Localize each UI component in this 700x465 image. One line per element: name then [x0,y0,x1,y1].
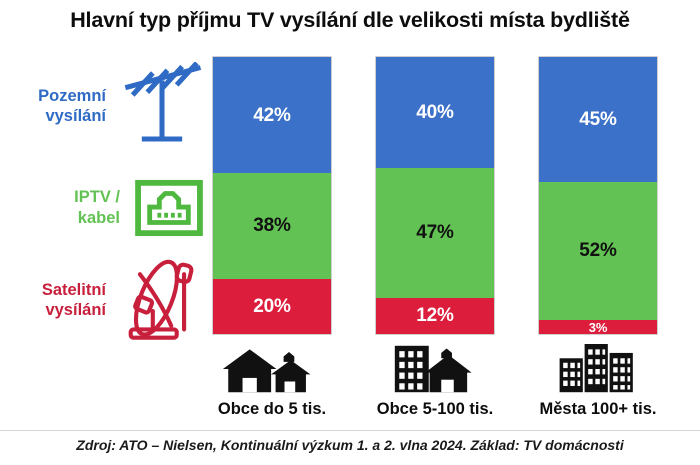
segment-iptv-cable: 47% [376,168,494,298]
segment-satellite: 12% [376,298,494,334]
segment-value-iptv-cable: 52% [579,241,616,260]
segment-value-terrestrial: 40% [416,103,453,122]
bar-group-obce-do-5-tis: 42% 38% 20% [213,57,331,419]
category-label-obce-5-100-tis: Obce 5-100 tis. [376,400,494,419]
segment-satellite: 3% [539,320,657,334]
stacked-bar: 40% 47% 12% [376,57,494,334]
segment-value-satellite: 3% [589,321,607,334]
footer-divider [0,430,700,431]
segment-terrestrial: 40% [376,57,494,168]
bar-group-mesta-100-plus-tis: 45% 52% 3% [539,57,657,419]
segment-iptv-cable: 52% [539,182,657,321]
segment-value-satellite: 20% [253,297,290,316]
segment-value-terrestrial: 42% [253,106,290,125]
bar-group-obce-5-100-tis: 40% 47% 12% [376,57,494,419]
segment-terrestrial: 42% [213,57,331,173]
city-skyline-icon [539,342,657,394]
source-note: Zdroj: ATO – Nielsen, Kontinuální výzkum… [0,437,700,453]
stacked-bar: 45% 52% 3% [539,57,657,334]
stacked-bar: 42% 38% 20% [213,57,331,334]
segment-value-iptv-cable: 47% [416,223,453,242]
apartment-and-house-icon [376,342,494,394]
bars-area: 42% 38% 20% [0,0,700,465]
category-label-mesta-100-plus-tis: Města 100+ tis. [539,400,657,419]
chart-container: Hlavní typ příjmu TV vysílání dle veliko… [0,0,700,465]
segment-satellite: 20% [213,279,331,334]
segment-iptv-cable: 38% [213,173,331,278]
category-label-obce-do-5-tis: Obce do 5 tis. [213,400,331,419]
segment-value-terrestrial: 45% [579,110,616,129]
segment-value-iptv-cable: 38% [253,216,290,235]
segment-value-satellite: 12% [416,306,453,325]
segment-terrestrial: 45% [539,57,657,182]
two-houses-icon [213,342,331,394]
